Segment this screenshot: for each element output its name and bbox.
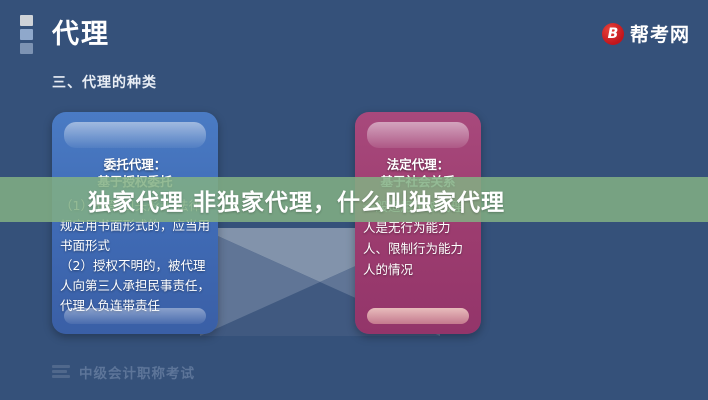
card-entrusted-agency: 委托代理： 基于授权委托 （1）书面/口头形式,法律规定用书面形式的，应当用书面… xyxy=(52,112,218,334)
card-title-line1: 法定代理： xyxy=(363,156,473,173)
card-gloss-top xyxy=(367,122,469,148)
overlay-title-band: 独家代理 非独家代理，什么叫独家代理 xyxy=(0,177,708,222)
brand-logo[interactable]: B 帮考网 xyxy=(602,20,690,47)
brand-name: 帮考网 xyxy=(630,20,690,47)
stacked-squares-icon xyxy=(20,15,33,54)
footer-label: 中级会计职称考试 xyxy=(79,362,195,382)
card-gloss-bottom xyxy=(367,308,469,324)
section-subtitle: 三、代理的种类 xyxy=(52,72,157,92)
book-stack-icon xyxy=(52,365,70,379)
slide-canvas: 代理 三、代理的种类 B 帮考网 委托代理： 基于授权委托 （1）书面/口头形式… xyxy=(0,0,708,400)
card-statutory-agency: 法定代理： 基于社会关系 一般适用于被代理人是无行为能力人、限制行为能力人的情况 xyxy=(355,112,481,334)
card-gloss-bottom xyxy=(64,308,206,324)
card-gloss-top xyxy=(64,122,206,148)
brand-circle-icon: B xyxy=(602,23,624,45)
card-body-line: （2）授权不明的，被代理人向第三人承担民事责任，代理人负连带责任 xyxy=(60,256,210,316)
page-title: 代理 xyxy=(52,18,110,52)
card-title-line1: 委托代理： xyxy=(60,156,210,173)
footer: 中级会计职称考试 xyxy=(52,362,195,382)
overlay-title: 独家代理 非独家代理，什么叫独家代理 xyxy=(0,183,708,217)
